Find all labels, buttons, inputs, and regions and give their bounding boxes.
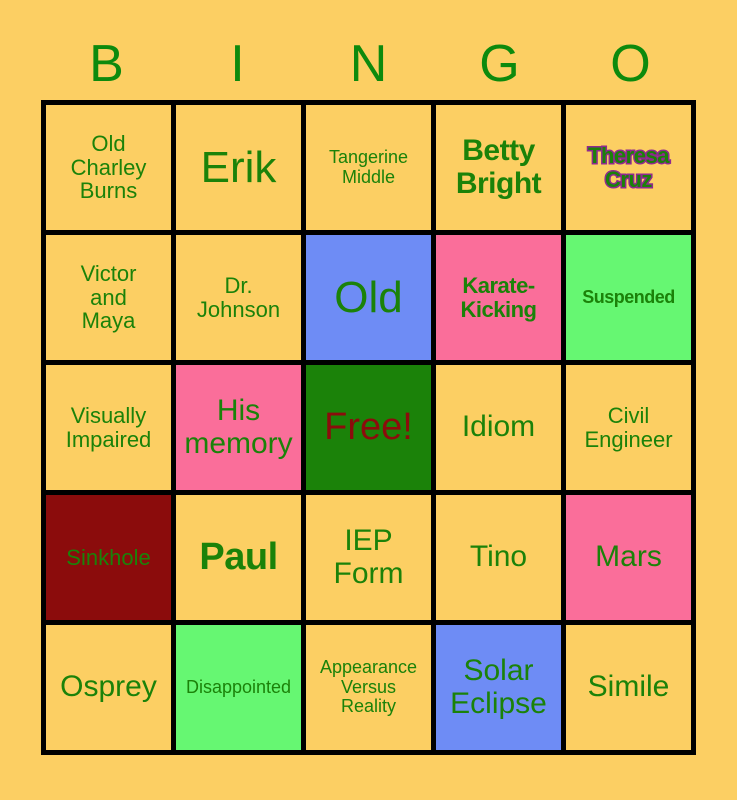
header-letter-b: B [41, 28, 172, 100]
bingo-cell-o3[interactable]: Civil Engineer [566, 365, 691, 490]
bingo-cell-g4[interactable]: Tino [436, 495, 561, 620]
bingo-cell-o5[interactable]: Simile [566, 625, 691, 750]
bingo-cell-n3[interactable]: Free! [306, 365, 431, 490]
bingo-cell-label: Suspended [568, 288, 689, 307]
bingo-cell-label: Mars [568, 541, 689, 573]
bingo-cell-g2[interactable]: Karate- Kicking [436, 235, 561, 360]
header-letter-n: N [303, 28, 434, 100]
bingo-cell-label: Erik [178, 144, 299, 192]
bingo-cell-label: Tino [438, 541, 559, 573]
bingo-card: B I N G O Old Charley BurnsErikTangerine… [0, 0, 737, 800]
bingo-cell-i3[interactable]: His memory [176, 365, 301, 490]
bingo-cell-g5[interactable]: Solar Eclipse [436, 625, 561, 750]
bingo-cell-label: IEP Form [308, 525, 429, 590]
bingo-cell-o4[interactable]: Mars [566, 495, 691, 620]
bingo-cell-label: Visually Impaired [48, 404, 169, 452]
bingo-cell-label: Sinkhole [48, 546, 169, 570]
header-letter-o: O [565, 28, 696, 100]
bingo-cell-label: Betty Bright [438, 135, 559, 200]
bingo-cell-n1[interactable]: Tangerine Middle [306, 105, 431, 230]
bingo-cell-i1[interactable]: Erik [176, 105, 301, 230]
bingo-cell-label: Appearance Versus Reality [308, 658, 429, 716]
bingo-cell-label: Victor and Maya [48, 262, 169, 333]
bingo-cell-label: Civil Engineer [568, 404, 689, 452]
bingo-cell-label: Old Charley Burns [48, 132, 169, 203]
bingo-cell-label: Free! [308, 407, 429, 448]
bingo-cell-label: Disappointed [178, 678, 299, 697]
header-letter-i: I [172, 28, 303, 100]
bingo-cell-b3[interactable]: Visually Impaired [46, 365, 171, 490]
bingo-cell-label: His memory [178, 395, 299, 460]
bingo-cell-b2[interactable]: Victor and Maya [46, 235, 171, 360]
bingo-cell-label: Solar Eclipse [438, 655, 559, 720]
bingo-cell-i4[interactable]: Paul [176, 495, 301, 620]
bingo-cell-o1[interactable]: Theresa Cruz [566, 105, 691, 230]
bingo-cell-label: Theresa Cruz [568, 144, 689, 192]
bingo-cell-b1[interactable]: Old Charley Burns [46, 105, 171, 230]
bingo-cell-b4[interactable]: Sinkhole [46, 495, 171, 620]
bingo-cell-label: Dr. Johnson [178, 274, 299, 322]
bingo-cell-i5[interactable]: Disappointed [176, 625, 301, 750]
bingo-cell-o2[interactable]: Suspended [566, 235, 691, 360]
bingo-header: B I N G O [41, 28, 696, 100]
bingo-cell-b5[interactable]: Osprey [46, 625, 171, 750]
bingo-cell-g1[interactable]: Betty Bright [436, 105, 561, 230]
bingo-cell-label: Idiom [438, 411, 559, 443]
bingo-cell-label: Simile [568, 671, 689, 703]
bingo-cell-i2[interactable]: Dr. Johnson [176, 235, 301, 360]
bingo-cell-n2[interactable]: Old [306, 235, 431, 360]
bingo-cell-n4[interactable]: IEP Form [306, 495, 431, 620]
bingo-cell-label: Karate- Kicking [438, 274, 559, 322]
bingo-cell-label: Old [308, 274, 429, 322]
header-letter-g: G [434, 28, 565, 100]
bingo-cell-label: Osprey [48, 671, 169, 703]
bingo-cell-label: Paul [178, 537, 299, 578]
bingo-grid: Old Charley BurnsErikTangerine MiddleBet… [41, 100, 696, 755]
bingo-cell-g3[interactable]: Idiom [436, 365, 561, 490]
bingo-cell-label: Tangerine Middle [308, 148, 429, 187]
bingo-cell-n5[interactable]: Appearance Versus Reality [306, 625, 431, 750]
